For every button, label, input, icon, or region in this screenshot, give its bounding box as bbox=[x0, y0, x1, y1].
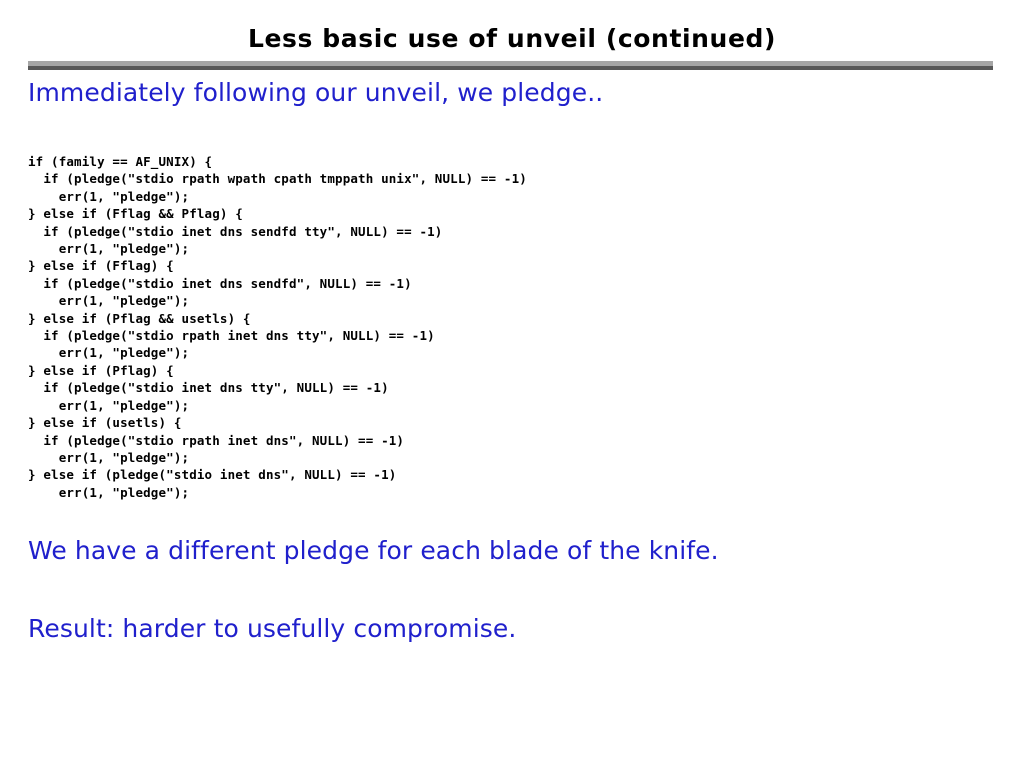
title-divider bbox=[28, 61, 993, 70]
page-title: Less basic use of unveil (continued) bbox=[0, 24, 1024, 54]
closing-statement-one: We have a different pledge for each blad… bbox=[28, 536, 719, 566]
divider-dark-band bbox=[28, 66, 993, 70]
code-listing: if (family == AF_UNIX) { if (pledge("std… bbox=[28, 153, 527, 501]
lead-statement: Immediately following our unveil, we ple… bbox=[28, 78, 603, 108]
closing-statement-two: Result: harder to usefully compromise. bbox=[28, 614, 516, 644]
